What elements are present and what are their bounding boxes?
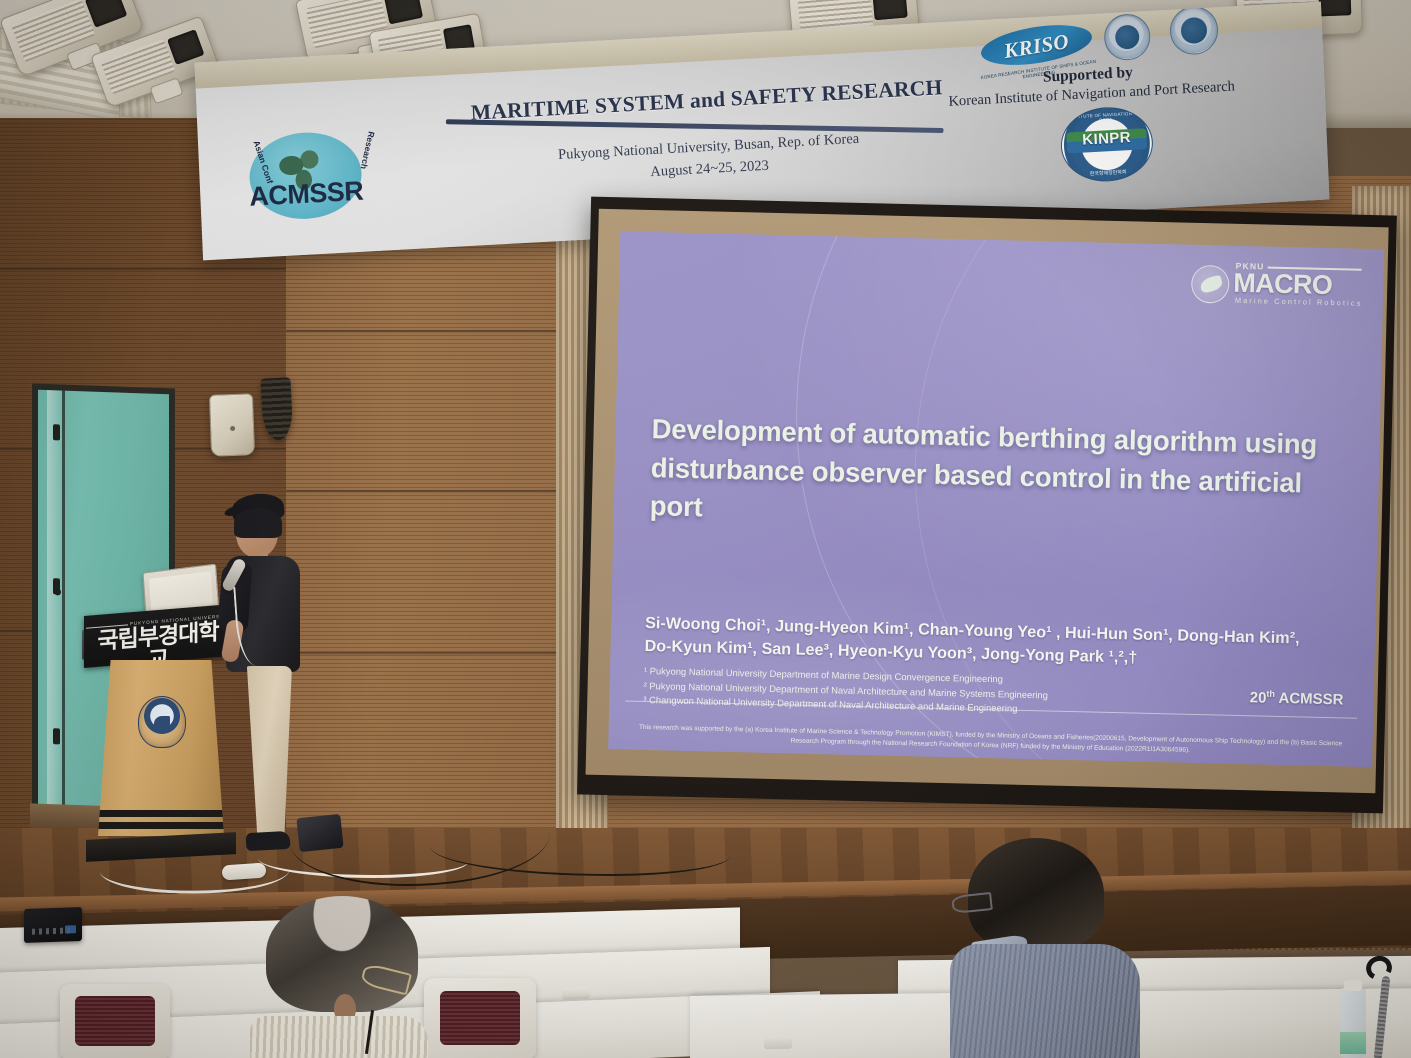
- door-handle[interactable]: [54, 588, 61, 595]
- slide-event-badge-name: ACMSSR: [1278, 690, 1343, 709]
- bottle-label: [1340, 1032, 1366, 1054]
- desk-cable-grommet: [562, 987, 590, 1000]
- kinpr-logo-ring-bottom: 한국항해항만학회: [1063, 167, 1153, 179]
- podium-stripe: [98, 822, 224, 829]
- spotlight-lens: [167, 29, 205, 65]
- water-bottle[interactable]: [1340, 988, 1366, 1058]
- macro-logo-bird-icon: [1191, 265, 1230, 304]
- door-hinge: [53, 424, 60, 440]
- chair-mesh-back: [75, 996, 154, 1046]
- banner-title: MARITIME SYSTEM and SAFETY RESEARCH: [446, 75, 966, 127]
- university-seal-logo: [1103, 13, 1151, 61]
- chair-mesh-back: [440, 991, 521, 1045]
- presenter-hair: [234, 508, 282, 538]
- pknu-emblem-icon: [138, 696, 186, 748]
- audience-chair[interactable]: [60, 984, 170, 1058]
- acmssr-logo: Asian Conf Research ACMSSR: [230, 123, 383, 249]
- spotlight-lens: [1318, 0, 1351, 16]
- presentation-slide: PKNU MACRO Marine Control Robotics Devel…: [608, 231, 1384, 767]
- audience-member-foreground-left: [250, 896, 440, 1058]
- wall-speaker: [209, 393, 255, 456]
- projection-screen-matte: PKNU MACRO Marine Control Robotics Devel…: [586, 209, 1389, 793]
- slide-event-badge-ordinal: th: [1266, 689, 1275, 699]
- spotlight-mount: [149, 77, 183, 104]
- door-glass-pane: [47, 390, 63, 823]
- bottle-cap: [1344, 980, 1362, 991]
- audience-member-shirt: [950, 944, 1140, 1058]
- desk-cable-grommet: [764, 1037, 792, 1049]
- slide-event-badge: 20th ACMSSR: [1250, 688, 1344, 708]
- spotlight-lens: [384, 0, 424, 25]
- projection-screen: PKNU MACRO Marine Control Robotics Devel…: [577, 197, 1397, 814]
- kinpr-logo: INSTITUTE OF NAVIGATION AND PORT KINPR 한…: [1059, 105, 1154, 184]
- slide-event-badge-number: 20: [1250, 689, 1267, 706]
- audience-chair[interactable]: [424, 978, 536, 1058]
- kinpr-logo-ring-top: INSTITUTE OF NAVIGATION AND PORT: [1061, 110, 1151, 125]
- podium-body: [98, 660, 224, 836]
- laptop-power-adapter: [222, 862, 267, 880]
- conference-photo: Asian Conf Research ACMSSR MARITIME SYST…: [0, 0, 1411, 1058]
- acmssr-logo-arc-right-text: Research: [359, 131, 377, 171]
- pknu-seal-core: [1181, 17, 1208, 44]
- university-seal-core: [1114, 24, 1140, 50]
- macro-logo-tagline: Marine Control Robotics: [1235, 296, 1363, 308]
- banner-venue-block: Pukyong National University, Busan, Rep.…: [449, 123, 970, 195]
- spotlight-lens: [872, 0, 907, 21]
- podium-stripe: [98, 810, 224, 817]
- podium-nameplate: PUKYONG NATIONAL UNIVERSITY 국립부경대학교: [84, 604, 232, 668]
- presenter-trousers: [244, 666, 292, 838]
- door-jamb: [62, 391, 65, 823]
- av-control-panel[interactable]: [24, 907, 82, 943]
- door-hinge: [53, 728, 60, 744]
- audience-member-shirt: [250, 1016, 428, 1058]
- slide-title: Development of automatic berthing algori…: [649, 410, 1352, 542]
- macro-lab-logo: PKNU MACRO Marine Control Robotics: [1191, 259, 1372, 311]
- gooseneck-microphone[interactable]: [1364, 956, 1404, 1058]
- control-panel-display: [65, 925, 76, 933]
- acmssr-logo-wordmark: ACMSSR: [232, 175, 381, 214]
- microphone-clip-icon: [1363, 953, 1395, 984]
- microphone-gooseneck-stem: [1374, 976, 1391, 1058]
- audience-member-foreground-right: [950, 838, 1150, 1058]
